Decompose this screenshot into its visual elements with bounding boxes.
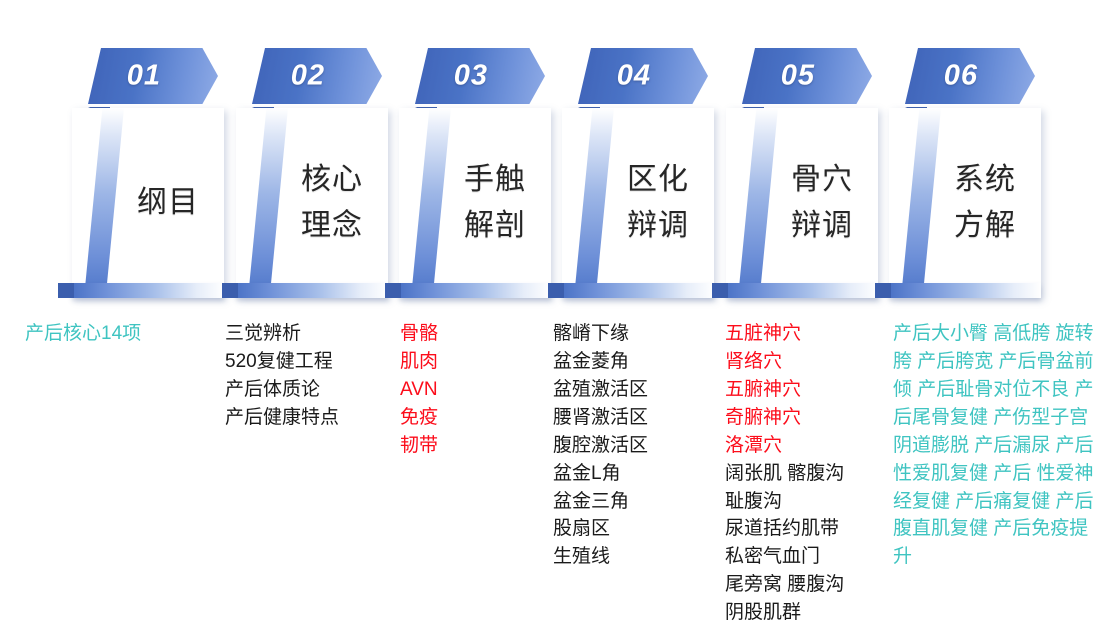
step-number: 06: [905, 60, 1017, 93]
card-title: 系统 方解: [935, 108, 1035, 298]
detail-line: 腹腔激活区: [553, 432, 723, 460]
step-card-05[interactable]: 骨穴 辩调: [726, 108, 878, 298]
step-detail-column-03: 骨骼肌肉AVN免疫韧带: [400, 320, 550, 460]
step-detail-column-05: 五脏神穴肾络穴五腑神穴奇腑神穴洛潭穴阔张肌 髂腹沟耻腹沟尿道括约肌带私密气血门尾…: [725, 320, 890, 627]
step-card-03[interactable]: 手触 解剖: [399, 108, 551, 298]
step-banner-05[interactable]: 05: [742, 48, 872, 108]
step-detail-column-04: 髂嵴下缘盆金菱角盆殖激活区腰肾激活区腹腔激活区盆金L角盆金三角股扇区生殖线: [553, 320, 723, 571]
card-bottom-fold-decoration: [875, 283, 891, 298]
detail-line: 盆金L角: [553, 460, 723, 488]
detail-line: 520复健工程: [225, 348, 400, 376]
chevron-shape: 06: [905, 48, 1035, 104]
detail-line: 尾旁窝 腰腹沟: [725, 571, 890, 599]
step-detail-column-02: 三觉辨析520复健工程产后体质论产后健康特点: [225, 320, 400, 432]
detail-line: 阔张肌 髂腹沟: [725, 460, 890, 488]
detail-line: 髂嵴下缘: [553, 320, 723, 348]
chevron-shape: 04: [578, 48, 708, 104]
detail-line: 盆金菱角: [553, 348, 723, 376]
card-bottom-fold-decoration: [58, 283, 74, 298]
card-title: 区化 辩调: [608, 108, 708, 298]
step-card-02[interactable]: 核心 理念: [236, 108, 388, 298]
detail-line: 肌肉: [400, 348, 550, 376]
step-card-06[interactable]: 系统 方解: [889, 108, 1041, 298]
step-banner-04[interactable]: 04: [578, 48, 708, 108]
chevron-shape: 02: [252, 48, 382, 104]
step-number: 01: [88, 60, 200, 93]
step-number: 04: [578, 60, 690, 93]
card-bottom-bar: [889, 283, 1041, 298]
detail-paragraph: 产后大小臀 高低胯 旋转胯 产后胯宽 产后骨盆前倾 产后耻骨对位不良 产后尾骨复…: [893, 320, 1098, 571]
detail-line: 三觉辨析: [225, 320, 400, 348]
step-number: 02: [252, 60, 364, 93]
step-card-01[interactable]: 纲目: [72, 108, 224, 298]
step-banner-01[interactable]: 01: [88, 48, 218, 108]
chevron-shape: 01: [88, 48, 218, 104]
card-bottom-fold-decoration: [222, 283, 238, 298]
step-detail-column-06: 产后大小臀 高低胯 旋转胯 产后胯宽 产后骨盆前倾 产后耻骨对位不良 产后尾骨复…: [893, 320, 1098, 571]
detail-line: 盆殖激活区: [553, 376, 723, 404]
detail-line: 奇腑神穴: [725, 404, 890, 432]
detail-line: 产后体质论: [225, 376, 400, 404]
step-card-04[interactable]: 区化 辩调: [562, 108, 714, 298]
detail-line: 耻腹沟: [725, 488, 890, 516]
detail-line: 产后健康特点: [225, 404, 400, 432]
detail-line: 盆金三角: [553, 488, 723, 516]
chevron-shape: 03: [415, 48, 545, 104]
step-number: 05: [742, 60, 854, 93]
card-bottom-bar: [726, 283, 878, 298]
detail-line: 韧带: [400, 432, 550, 460]
detail-line: 五脏神穴: [725, 320, 890, 348]
card-title: 核心 理念: [282, 108, 382, 298]
card-bottom-fold-decoration: [385, 283, 401, 298]
card-title: 手触 解剖: [445, 108, 545, 298]
detail-line: 股扇区: [553, 515, 723, 543]
card-bottom-fold-decoration: [712, 283, 728, 298]
slide-canvas: 01纲目产后核心14项02核心 理念三觉辨析520复健工程产后体质论产后健康特点…: [0, 0, 1111, 627]
card-bottom-bar: [562, 283, 714, 298]
detail-line: 产后核心14项: [25, 320, 215, 348]
detail-line: AVN: [400, 376, 550, 404]
detail-line: 骨骼: [400, 320, 550, 348]
step-banner-03[interactable]: 03: [415, 48, 545, 108]
detail-line: 私密气血门: [725, 543, 890, 571]
card-bottom-bar: [236, 283, 388, 298]
detail-line: 免疫: [400, 404, 550, 432]
chevron-shape: 05: [742, 48, 872, 104]
detail-line: 尿道括约肌带: [725, 515, 890, 543]
card-title: 骨穴 辩调: [772, 108, 872, 298]
card-bottom-bar: [399, 283, 551, 298]
step-number: 03: [415, 60, 527, 93]
detail-line: 生殖线: [553, 543, 723, 571]
step-banner-02[interactable]: 02: [252, 48, 382, 108]
card-title: 纲目: [118, 108, 218, 298]
step-banner-06[interactable]: 06: [905, 48, 1035, 108]
detail-line: 腰肾激活区: [553, 404, 723, 432]
card-bottom-bar: [72, 283, 224, 298]
detail-line: 洛潭穴: [725, 432, 890, 460]
detail-line: 阴股肌群: [725, 599, 890, 627]
detail-line: 肾络穴: [725, 348, 890, 376]
step-detail-column-01: 产后核心14项: [25, 320, 215, 348]
card-bottom-fold-decoration: [548, 283, 564, 298]
detail-line: 五腑神穴: [725, 376, 890, 404]
